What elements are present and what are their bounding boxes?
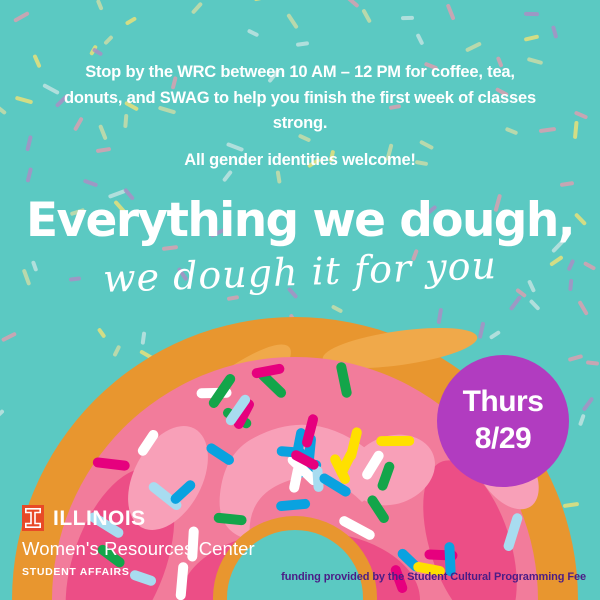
frosting-sprinkle <box>204 442 235 467</box>
welcome-text: All gender identities welcome! <box>60 148 540 174</box>
date-badge-day: Thurs <box>463 384 544 421</box>
promotional-poster: Stop by the WRC between 10 AM – 12 PM fo… <box>0 0 600 600</box>
frosting-sprinkle <box>365 494 390 525</box>
frosting-sprinkle <box>338 515 377 542</box>
frosting-sprinkle <box>276 498 310 511</box>
frosting-sprinkle <box>169 478 198 506</box>
unit-name: Women's Resources Center <box>22 538 255 560</box>
subunit-name: STUDENT AFFAIRS <box>22 566 255 578</box>
frosting-sprinkle <box>92 457 129 471</box>
frosting-sprinkle <box>288 465 303 494</box>
frosting-sprinkle <box>503 512 524 552</box>
page-title: Everything we dough, <box>0 196 600 245</box>
funding-credit: funding provided by the Student Cultural… <box>250 571 586 583</box>
frosting-sprinkle <box>301 414 319 449</box>
illinois-block-i-icon <box>22 505 44 531</box>
frosting-sprinkle <box>376 460 396 492</box>
illinois-wordmark: ILLINOIS <box>53 508 146 529</box>
frosting-sprinkle <box>376 436 414 446</box>
date-badge-date: 8/29 <box>475 421 531 458</box>
intro-text: Stop by the WRC between 10 AM – 12 PM fo… <box>60 60 540 137</box>
frosting-sprinkle <box>135 428 159 457</box>
illinois-logo-lockup: ILLINOIS Women's Resources Center STUDEN… <box>22 505 255 578</box>
date-badge: Thurs 8/29 <box>437 355 569 487</box>
frosting-sprinkle <box>336 361 353 398</box>
